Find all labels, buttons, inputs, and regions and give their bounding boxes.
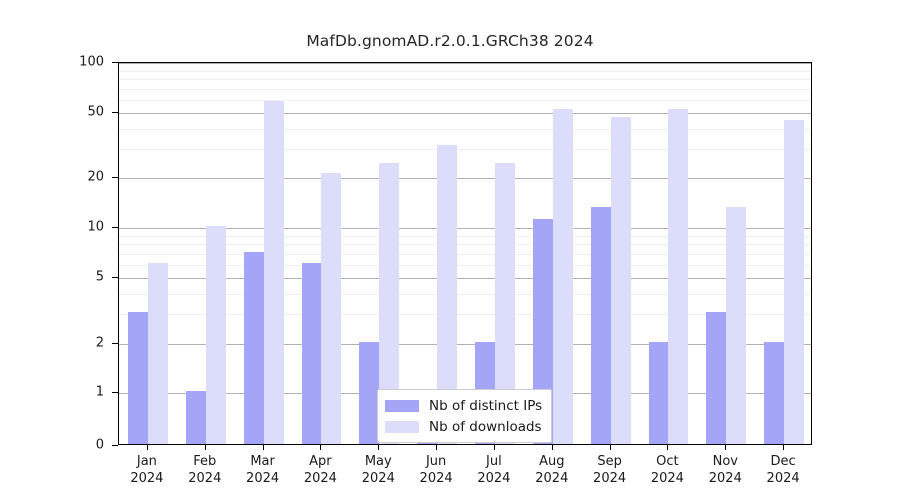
bar-downloads — [611, 117, 631, 444]
y-axis-tick-label: 20 — [58, 170, 104, 185]
plot-area — [118, 62, 812, 445]
x-axis-tick-mark — [725, 445, 726, 450]
legend-item-downloads: Nb of downloads — [385, 416, 542, 437]
bar-distinct-ips — [302, 263, 322, 444]
bar-distinct-ips — [186, 391, 206, 444]
chart-figure: MafDb.gnomAD.r2.0.1.GRCh38 2024 01251020… — [0, 0, 900, 500]
y-axis-tick-label: 50 — [58, 104, 104, 119]
x-axis-tick-mark — [320, 445, 321, 450]
x-axis: Jan2024Feb2024Mar2024Apr2024May2024Jun20… — [0, 445, 900, 500]
bar-distinct-ips — [764, 342, 784, 445]
y-axis-tick-label: 10 — [58, 220, 104, 235]
x-axis-tick-mark — [552, 445, 553, 450]
x-axis-tick-mark — [147, 445, 148, 450]
bar-distinct-ips — [706, 312, 726, 444]
x-axis-tick-mark — [494, 445, 495, 450]
bar-downloads — [553, 109, 573, 444]
legend-label: Nb of distinct IPs — [429, 398, 542, 414]
y-axis-tick-label: 5 — [58, 269, 104, 284]
bar-downloads — [668, 109, 688, 444]
x-axis-tick-mark — [205, 445, 206, 450]
x-axis-tick-mark — [436, 445, 437, 450]
bar-distinct-ips — [244, 252, 264, 444]
x-axis-tick-mark — [783, 445, 784, 450]
y-axis: 0125102050100 — [0, 0, 118, 500]
bar-downloads — [264, 101, 284, 444]
chart-title: MafDb.gnomAD.r2.0.1.GRCh38 2024 — [0, 32, 900, 50]
y-axis-tick-label: 2 — [58, 335, 104, 350]
y-axis-tick-label: 1 — [58, 385, 104, 400]
x-axis-tick-label: Dec2024 — [738, 453, 828, 487]
x-axis-tick-mark — [610, 445, 611, 450]
x-axis-tick-label-line: 2024 — [738, 470, 828, 487]
bar-downloads — [206, 226, 226, 444]
legend-swatch-icon — [385, 400, 419, 412]
x-axis-tick-mark — [667, 445, 668, 450]
bar-distinct-ips — [591, 207, 611, 444]
bar-distinct-ips — [128, 312, 148, 444]
legend-item-ips: Nb of distinct IPs — [385, 395, 542, 416]
bars-layer — [119, 63, 811, 444]
bar-downloads — [784, 120, 804, 444]
bar-downloads — [726, 207, 746, 444]
x-axis-tick-label-line: Dec — [738, 453, 828, 470]
chart-legend: Nb of distinct IPs Nb of downloads — [377, 389, 552, 443]
x-axis-tick-mark — [378, 445, 379, 450]
bar-distinct-ips — [649, 342, 669, 445]
bar-downloads — [321, 173, 341, 444]
legend-swatch-icon — [385, 421, 419, 433]
y-axis-tick-label: 100 — [58, 55, 104, 70]
x-axis-tick-mark — [263, 445, 264, 450]
bar-downloads — [148, 263, 168, 444]
legend-label: Nb of downloads — [429, 419, 542, 435]
